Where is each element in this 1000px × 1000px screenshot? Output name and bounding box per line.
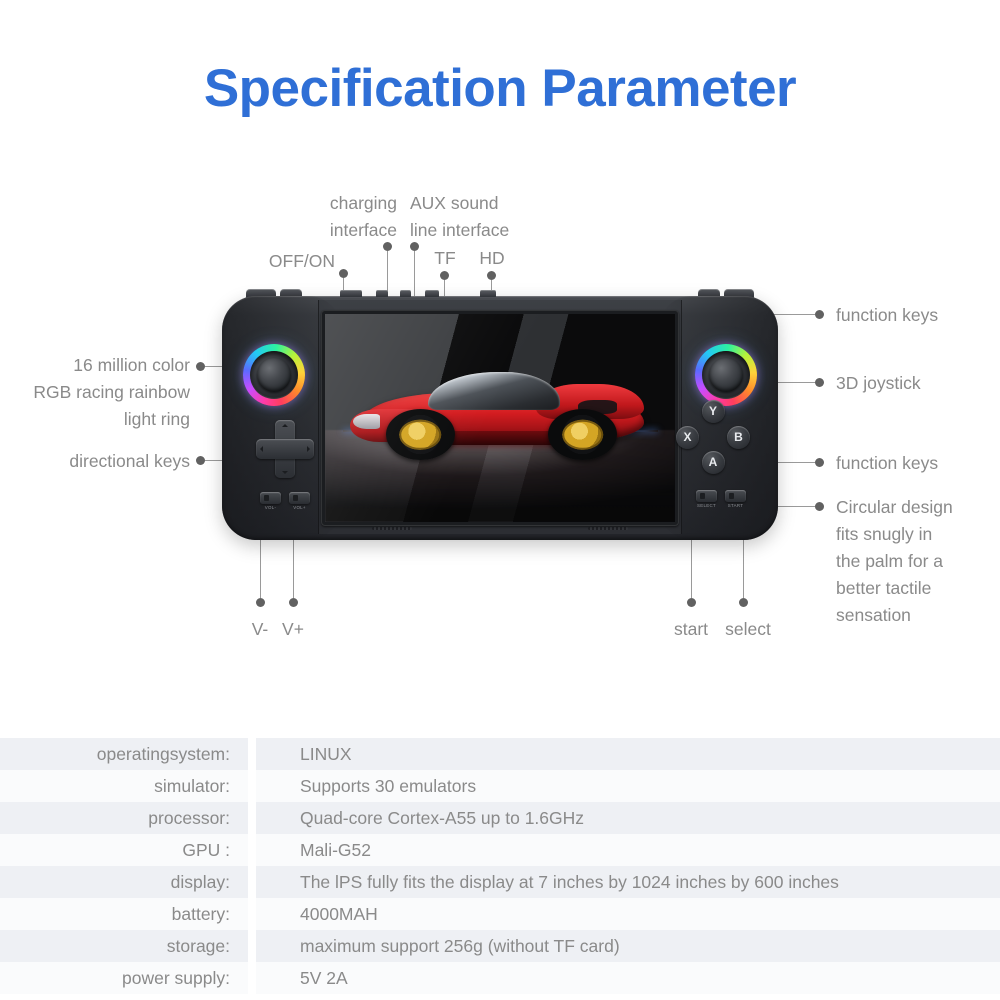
spec-label: storage: <box>0 930 248 962</box>
table-row: power supply:5V 2A <box>0 962 1000 994</box>
column-divider <box>248 866 256 898</box>
spec-value: The lPS fully fits the display at 7 inch… <box>256 866 1000 898</box>
button-y[interactable]: Y <box>702 400 725 423</box>
column-divider <box>248 770 256 802</box>
display-screen[interactable] <box>325 314 675 522</box>
leader-dot-volume-down <box>256 598 265 607</box>
start-label: START <box>728 503 744 508</box>
table-row: battery:4000MAH <box>0 898 1000 930</box>
column-divider <box>248 898 256 930</box>
leader-dot-aux <box>410 242 419 251</box>
callout-tf: TF <box>427 245 463 272</box>
dpad-horizontal-arm[interactable] <box>256 439 314 459</box>
table-row: storage:maximum support 256g (without TF… <box>0 930 1000 962</box>
callout-aux-sound-line-interface: AUX sound line interface <box>410 190 580 244</box>
volume-down-label: VOL- <box>265 505 276 510</box>
spec-label: simulator: <box>0 770 248 802</box>
spec-value: maximum support 256g (without TF card) <box>256 930 1000 962</box>
leader-line-volume-down <box>260 540 261 598</box>
dpad-right-arrow-icon[interactable] <box>307 446 310 452</box>
charging-port <box>376 290 388 297</box>
callout-off-on: OFF/ON <box>210 248 335 275</box>
car-front-rim <box>399 420 441 450</box>
spec-value: Quad-core Cortex-A55 up to 1.6GHz <box>256 802 1000 834</box>
infographic-page: Specification Parameter OFF/ON charging … <box>0 0 1000 1000</box>
callout-directional-keys: directional keys <box>10 448 190 475</box>
leader-dot-circular-design <box>815 502 824 511</box>
leader-dot-charging <box>383 242 392 251</box>
button-a[interactable]: A <box>702 451 725 474</box>
leader-dot-select <box>739 598 748 607</box>
callout-function-keys-top: function keys <box>836 302 1000 329</box>
left-3d-joystick[interactable] <box>243 344 305 406</box>
leader-dot-function-keys-bottom <box>815 458 824 467</box>
spec-label: battery: <box>0 898 248 930</box>
callout-charging-interface: charging interface <box>270 190 397 244</box>
specification-table: operatingsystem:LINUXsimulator:Supports … <box>0 738 1000 994</box>
spec-value: 5V 2A <box>256 962 1000 994</box>
leader-dot-hd <box>487 271 496 280</box>
right-3d-joystick[interactable] <box>695 344 757 406</box>
aux-audio-port <box>400 290 411 297</box>
spec-label: processor: <box>0 802 248 834</box>
dpad-up-arrow-icon[interactable] <box>282 424 288 427</box>
leader-dot-3d-joystick <box>815 378 824 387</box>
table-row: operatingsystem:LINUX <box>0 738 1000 770</box>
joystick-cap-right[interactable] <box>709 358 743 392</box>
leader-dot-start <box>687 598 696 607</box>
speaker-grille-right <box>588 527 628 530</box>
column-divider <box>248 738 256 770</box>
leader-dot-off-on <box>339 269 348 278</box>
dpad-down-arrow-icon[interactable] <box>282 471 288 474</box>
dpad-left-arrow-icon[interactable] <box>260 446 263 452</box>
leader-line-select <box>743 540 744 598</box>
leader-line-volume-up <box>293 540 294 598</box>
car-headlight <box>353 414 380 429</box>
page-title: Specification Parameter <box>0 58 1000 119</box>
select-label: SELECT <box>697 503 716 508</box>
table-row: processor:Quad-core Cortex-A55 up to 1.6… <box>0 802 1000 834</box>
volume-up-label: VOL+ <box>293 505 306 510</box>
hdmi-port <box>480 290 496 297</box>
spec-value: LINUX <box>256 738 1000 770</box>
spec-value: Supports 30 emulators <box>256 770 1000 802</box>
table-row: GPU :Mali-G52 <box>0 834 1000 866</box>
screen-bezel <box>321 310 679 526</box>
callout-select: select <box>718 616 778 643</box>
leader-dot-tf <box>440 271 449 280</box>
power-switch-port[interactable] <box>340 290 362 297</box>
callout-3d-joystick: 3D joystick <box>836 370 1000 397</box>
car-cabin-windshield <box>428 372 560 410</box>
car-rear-rim <box>562 420 604 450</box>
spec-value: 4000MAH <box>256 898 1000 930</box>
callout-circular-design: Circular design fits snugly in the palm … <box>836 494 1000 629</box>
car-rear-wheel <box>548 409 617 460</box>
top-port-strip <box>330 290 560 298</box>
spec-label: GPU : <box>0 834 248 866</box>
leader-dot-directional-keys <box>196 456 205 465</box>
speaker-grille-left <box>372 527 412 530</box>
start-button[interactable]: START <box>725 490 746 502</box>
spec-label: display: <box>0 866 248 898</box>
table-row: simulator:Supports 30 emulators <box>0 770 1000 802</box>
car-front-wheel <box>386 409 455 460</box>
column-divider <box>248 834 256 866</box>
volume-down-button[interactable]: VOL- <box>260 492 281 504</box>
callout-start: start <box>666 616 716 643</box>
select-button[interactable]: SELECT <box>696 490 717 502</box>
system-button-group: SELECT START <box>696 490 746 502</box>
action-button-cluster: Y X B A <box>676 400 750 474</box>
column-divider <box>248 930 256 962</box>
callout-volume-up: V+ <box>272 616 314 643</box>
column-divider <box>248 802 256 834</box>
joystick-cap-left[interactable] <box>257 358 291 392</box>
leader-line-start <box>691 540 692 598</box>
button-x[interactable]: X <box>676 426 699 449</box>
spec-label: operatingsystem: <box>0 738 248 770</box>
callout-rgb-light-ring: 16 million color RGB racing rainbow ligh… <box>10 352 190 433</box>
callout-hd: HD <box>472 245 512 272</box>
red-sports-car-image <box>350 370 651 457</box>
tf-card-slot <box>425 290 439 297</box>
volume-button-group: VOL- VOL+ <box>260 492 310 504</box>
spec-label: power supply: <box>0 962 248 994</box>
directional-pad[interactable] <box>256 420 314 478</box>
table-row: display:The lPS fully fits the display a… <box>0 866 1000 898</box>
spec-value: Mali-G52 <box>256 834 1000 866</box>
callout-function-keys-bottom: function keys <box>836 450 1000 477</box>
leader-dot-function-keys-top <box>815 310 824 319</box>
handheld-game-console: Y X B A VOL- VOL+ SELECT START <box>222 296 778 540</box>
button-b[interactable]: B <box>727 426 750 449</box>
volume-up-button[interactable]: VOL+ <box>289 492 310 504</box>
column-divider <box>248 962 256 994</box>
leader-dot-rgb-ring <box>196 362 205 371</box>
leader-dot-volume-up <box>289 598 298 607</box>
